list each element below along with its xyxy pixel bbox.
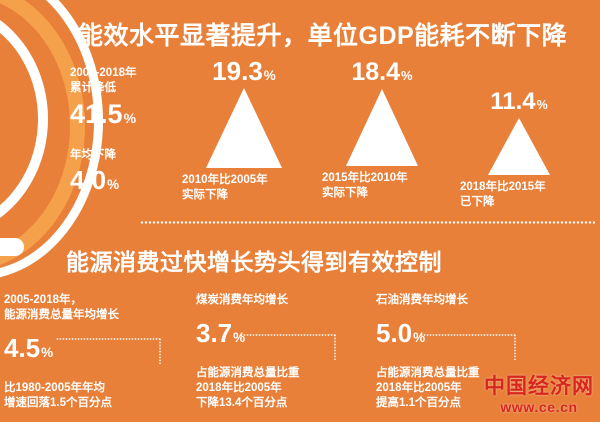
oil-number: 5.0 [376, 318, 412, 348]
stat-cumulative-number: 41.5 [70, 99, 123, 129]
section-2-title: 能源消费过快增长势头得到有效控制 [66, 243, 442, 277]
triangle-3-shape [488, 118, 550, 175]
energy-total-foot-line2: 增速回落1.5个百分点 [4, 396, 119, 411]
arc-inner-white [0, 0, 48, 238]
triangle-3-value: 11.4% [460, 90, 578, 114]
watermark-site-name: 中国经济网 [484, 376, 594, 397]
oil-foot-line2: 2018年比2005年 [376, 381, 480, 396]
watermark: 中国经济网 www.ce.cn [484, 376, 594, 414]
infographic-poster: 能效水平显著提升，单位GDP能耗不断下降 2005-2018年 累计降低 41.… [0, 0, 600, 422]
triangle-1-caption-line2: 实际下降 [182, 188, 306, 203]
dotted-divider [140, 221, 595, 224]
stat-cumulative-unit: % [124, 110, 136, 126]
stat-annual-label-line1: 年均下降 [70, 148, 119, 163]
triangle-2-caption-line1: 2015年比2010年 [322, 171, 442, 186]
triangle-stat-2: 18.4% 2015年比2010年 实际下降 [322, 60, 442, 201]
energy-total-unit: % [41, 345, 53, 360]
coal-foot-line2: 2018年比2005年 [196, 381, 300, 396]
energy-total-number: 4.5 [4, 333, 40, 363]
stat-annual-value: 4.0% [70, 167, 119, 193]
section-1-title: 能效水平显著提升，单位GDP能耗不断下降 [78, 16, 567, 52]
triangle-2-number: 18.4 [351, 58, 400, 86]
bracket-energy-total-horizontal [56, 338, 161, 340]
stat-annual-number: 4.0 [70, 165, 106, 195]
triangle-2-shape [346, 89, 418, 166]
energy-total-foot-line1: 比1980-2005年年均 [4, 381, 119, 396]
bracket-oil-horizontal [420, 334, 516, 336]
stat-annual-unit: % [107, 177, 119, 192]
triangle-1-unit: % [264, 68, 276, 83]
triangle-stat-1: 19.3% 2010年比2005年 实际下降 [182, 58, 306, 203]
bracket-energy-total [56, 338, 161, 364]
triangle-1-value: 19.3% [182, 58, 306, 84]
oil-foot-line3: 提高1.1个百分点 [376, 396, 480, 411]
stat-cumulative-label-line1: 2005-2018年 [70, 66, 137, 81]
coal-head-line1: 煤炭消费年均增长 [196, 293, 300, 308]
bracket-energy-total-vertical [159, 338, 161, 364]
stat-cumulative-label-line2: 累计降低 [70, 81, 137, 96]
bracket-coal-horizontal [240, 334, 336, 336]
coal-foot-line1: 占能源消费总量比重 [196, 366, 300, 381]
bracket-oil [420, 334, 516, 360]
oil-head-line1: 石油消费年均增长 [376, 293, 480, 308]
oil-foot-line1: 占能源消费总量比重 [376, 366, 480, 381]
stat-cumulative-decline: 2005-2018年 累计降低 41.5% [70, 66, 137, 128]
coal-number: 3.7 [196, 318, 232, 348]
triangle-2-caption-line2: 实际下降 [322, 186, 442, 201]
triangle-3-number: 11.4 [490, 88, 535, 115]
triangle-2-unit: % [401, 68, 413, 83]
triangle-1-shape [206, 88, 282, 168]
triangle-stat-3: 11.4% 2018年比2015年 已下降 [460, 90, 578, 210]
triangle-3-caption-line2: 已下降 [460, 195, 578, 210]
lozenge-shape [0, 238, 24, 256]
triangle-1-number: 19.3 [212, 56, 263, 86]
energy-total-head-line2: 能源消费总量年均增长 [4, 308, 119, 323]
watermark-url: www.ce.cn [484, 400, 594, 414]
triangle-3-caption-line1: 2018年比2015年 [460, 180, 578, 195]
triangle-2-value: 18.4% [322, 60, 442, 85]
triangle-1-caption-line1: 2010年比2005年 [182, 173, 306, 188]
arc-middle-orange [0, 0, 85, 272]
bracket-coal-vertical [334, 334, 336, 360]
stat-cumulative-value: 41.5% [70, 101, 137, 128]
energy-total-head-line1: 2005-2018年， [4, 293, 119, 308]
stat-annual-decline: 年均下降 4.0% [70, 148, 119, 193]
bracket-coal [240, 334, 336, 360]
coal-foot-line3: 下降13.4个百分点 [196, 396, 300, 411]
triangle-3-unit: % [537, 98, 548, 112]
bracket-oil-vertical [514, 334, 516, 360]
